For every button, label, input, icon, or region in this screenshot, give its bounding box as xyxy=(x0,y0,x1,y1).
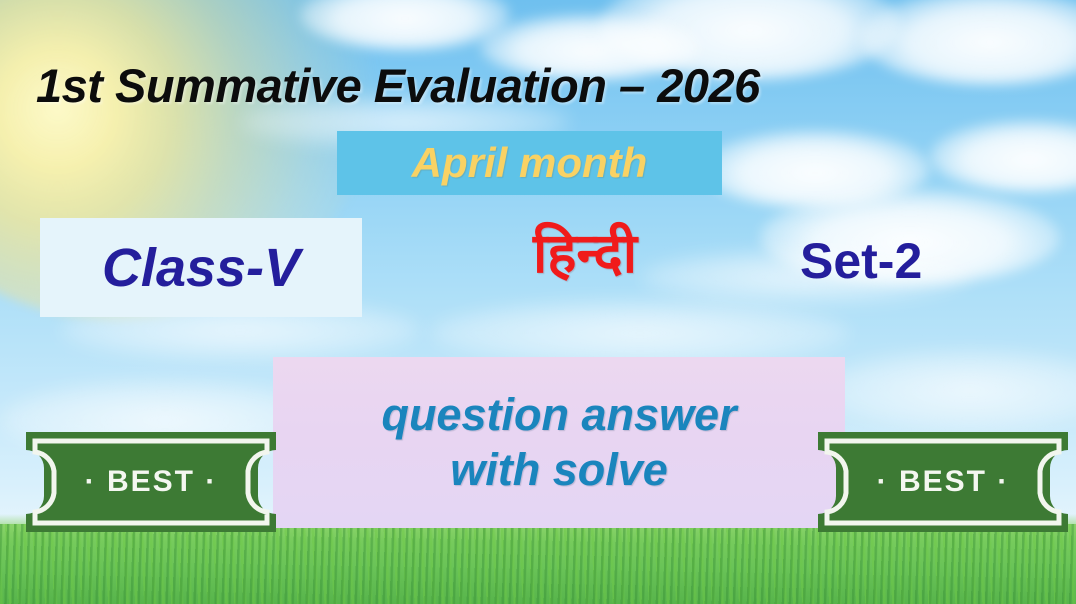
class-label: Class-V xyxy=(102,237,300,299)
set-label: Set-2 xyxy=(800,232,1040,290)
class-band: Class-V xyxy=(40,218,362,317)
month-band: April month xyxy=(337,131,722,195)
best-badge-right: · BEST · xyxy=(818,432,1068,532)
subject-label: हिन्दी xyxy=(455,222,715,285)
description-line-1: question answer xyxy=(381,388,736,443)
page-title: 1st Summative Evaluation – 2026 xyxy=(36,58,1036,113)
poster-canvas: 1st Summative Evaluation – 2026 April mo… xyxy=(0,0,1076,604)
best-badge-left-label: · BEST · xyxy=(26,432,276,532)
best-badge-right-label: · BEST · xyxy=(818,432,1068,532)
description-band: question answer with solve xyxy=(273,357,845,528)
cloud-decoration xyxy=(930,120,1076,192)
month-label: April month xyxy=(412,139,648,187)
grass-field xyxy=(0,524,1076,604)
best-badge-left: · BEST · xyxy=(26,432,276,532)
description-line-2: with solve xyxy=(450,443,668,498)
cloud-wisp-decoration xyxy=(820,350,1076,430)
